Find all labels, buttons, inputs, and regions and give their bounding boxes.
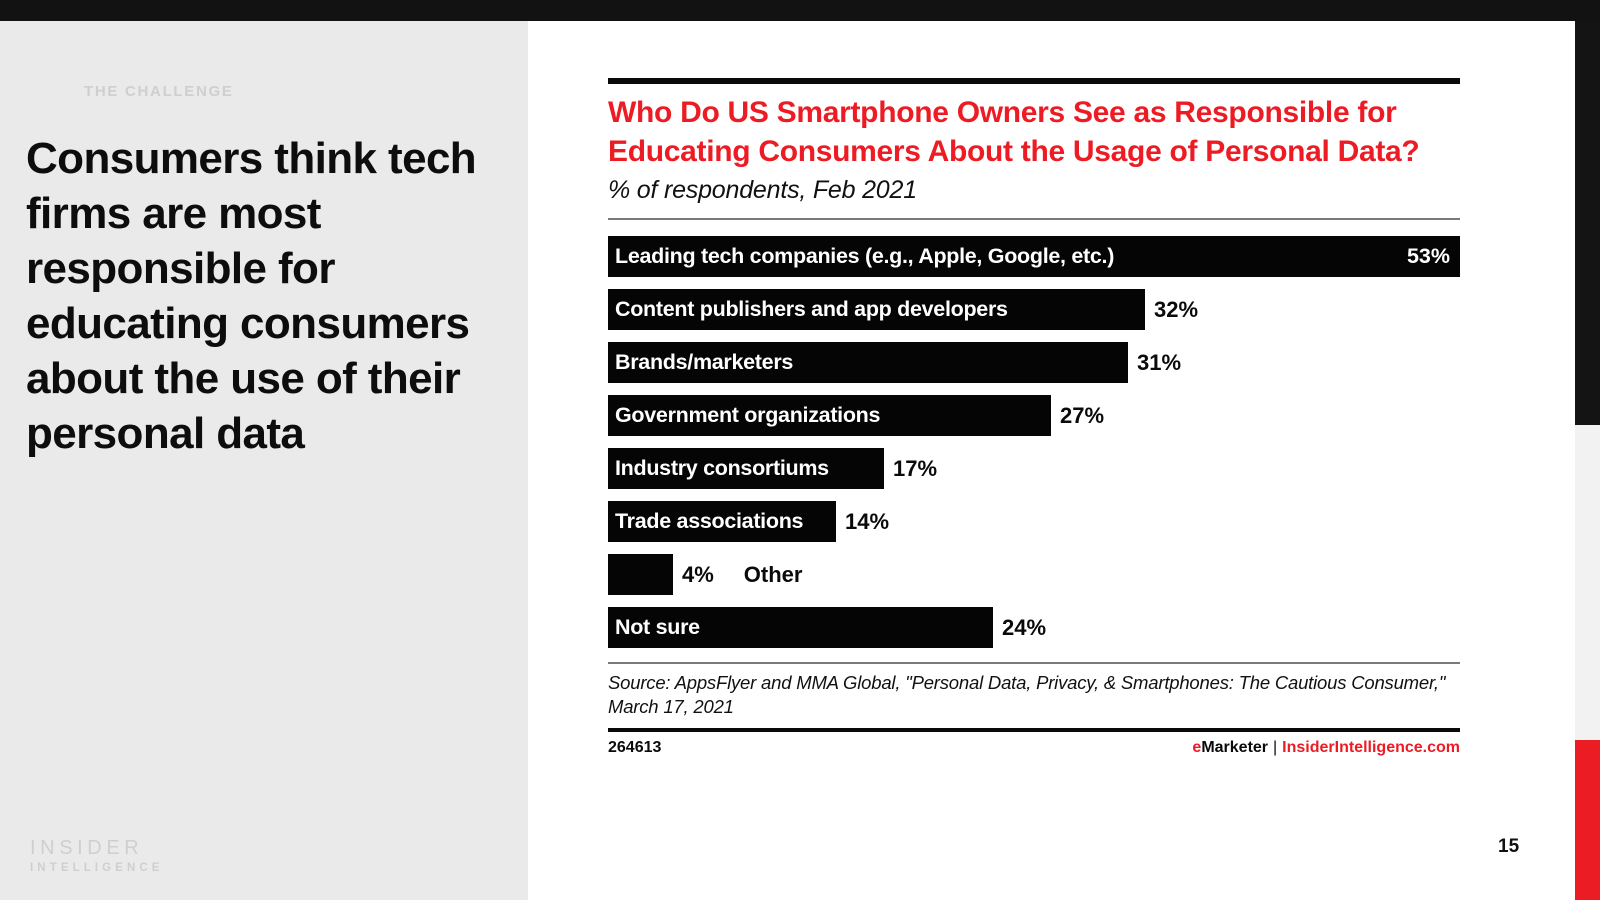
bar-7: [608, 554, 673, 595]
footer-separator: |: [1273, 739, 1277, 756]
insider-intelligence-logo: INSIDER INTELLIGENCE: [30, 836, 164, 876]
right-edge-red-strip: [1575, 740, 1600, 900]
logo-line-intelligence: INTELLIGENCE: [30, 860, 164, 876]
bar-2: Content publishers and app developers: [608, 289, 1145, 330]
emarketer-wordmark: Marketer: [1201, 739, 1268, 756]
chart-subtitle: % of respondents, Feb 2021: [608, 174, 1460, 206]
bar-label: Trade associations: [615, 509, 803, 534]
page-title: Consumers think tech firms are most resp…: [26, 131, 506, 461]
chart-subtitle-rule: [608, 218, 1460, 220]
chart-id-number: 264613: [608, 739, 661, 757]
bar-label: Industry consortiums: [615, 456, 829, 481]
bar-label: Other: [744, 562, 803, 588]
bar-value: 14%: [845, 509, 889, 535]
bar-value: 17%: [893, 456, 937, 482]
bar-4: Government organizations: [608, 395, 1051, 436]
chart-source-note: Source: AppsFlyer and MMA Global, "Perso…: [608, 671, 1460, 719]
bar-value: 27%: [1060, 403, 1104, 429]
bar-label: Brands/marketers: [615, 350, 793, 375]
chart-brand-line: eMarketer|InsiderIntelligence.com: [1192, 739, 1460, 757]
eyebrow-label: THE CHALLENGE: [84, 83, 234, 100]
bar-3: Brands/marketers: [608, 342, 1128, 383]
slide-canvas: THE CHALLENGE Consumers think tech firms…: [0, 0, 1600, 900]
right-edge-dark-strip: [1575, 21, 1600, 425]
bar-1: Leading tech companies (e.g., Apple, Goo…: [608, 236, 1460, 277]
emarketer-e-mark: e: [1192, 739, 1201, 756]
bar-8: Not sure: [608, 607, 993, 648]
top-decoration-bar: [0, 0, 1600, 21]
emarketer-chart-card: Who Do US Smartphone Owners See as Respo…: [608, 78, 1460, 757]
logo-line-insider: INSIDER: [30, 836, 164, 860]
bar-row: Leading tech companies (e.g., Apple, Goo…: [608, 236, 1460, 277]
bar-row: Government organizations27%: [608, 395, 1460, 436]
bar-value: 32%: [1154, 297, 1198, 323]
bar-row: Content publishers and app developers32%: [608, 289, 1460, 330]
chart-source-rule: [608, 662, 1460, 664]
bar-row: 4%Other: [608, 554, 1460, 595]
bar-label: Not sure: [615, 615, 700, 640]
insiderintelligence-link[interactable]: InsiderIntelligence.com: [1282, 739, 1460, 756]
bar-label: Content publishers and app developers: [615, 297, 1008, 322]
chart-footer: 264613 eMarketer|InsiderIntelligence.com: [608, 739, 1460, 757]
left-panel: THE CHALLENGE Consumers think tech firms…: [0, 21, 528, 900]
bar-chart-plot-area: Leading tech companies (e.g., Apple, Goo…: [608, 236, 1460, 648]
chart-footer-rule: [608, 728, 1460, 732]
bar-row: Not sure24%: [608, 607, 1460, 648]
bar-row: Brands/marketers31%: [608, 342, 1460, 383]
bar-value: 31%: [1137, 350, 1181, 376]
bar-row: Industry consortiums17%: [608, 448, 1460, 489]
right-edge-gray-strip: [1575, 425, 1600, 740]
bar-value: 24%: [1002, 615, 1046, 641]
bar-label: Leading tech companies (e.g., Apple, Goo…: [615, 244, 1114, 269]
bar-label: Government organizations: [615, 403, 880, 428]
bar-value: 53%: [1407, 244, 1450, 269]
bar-6: Trade associations: [608, 501, 836, 542]
bar-value: 4%: [682, 562, 714, 588]
chart-top-rule: [608, 78, 1460, 84]
bar-5: Industry consortiums: [608, 448, 884, 489]
slide-page-number: 15: [1498, 836, 1519, 858]
bar-row: Trade associations14%: [608, 501, 1460, 542]
chart-title: Who Do US Smartphone Owners See as Respo…: [608, 93, 1460, 171]
